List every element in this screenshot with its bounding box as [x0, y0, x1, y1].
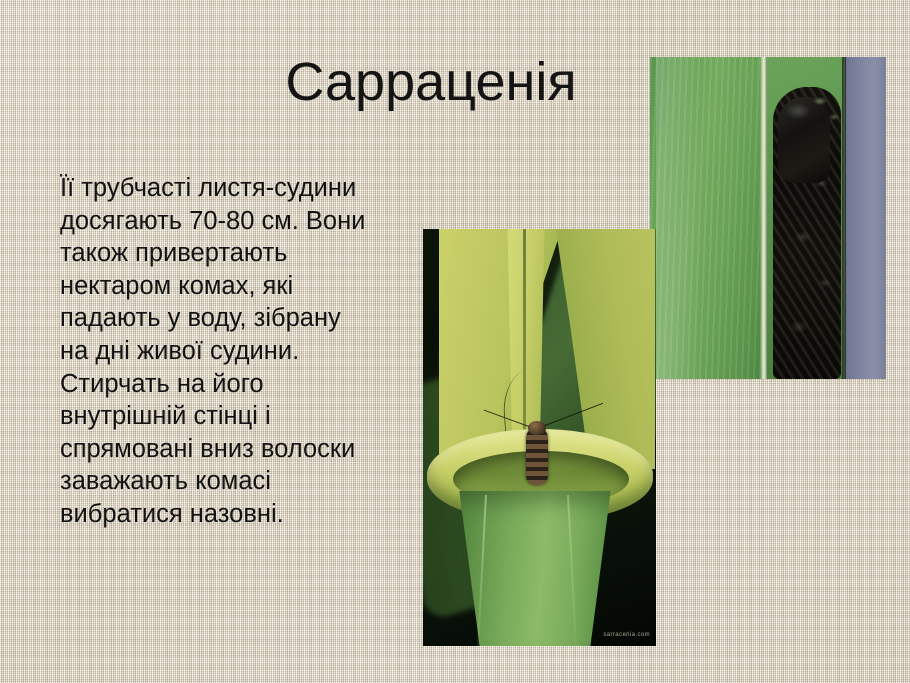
body-line: Стирчать на його	[60, 368, 432, 401]
body-line: також привертають	[60, 237, 432, 270]
body-line: Її трубчасті листя-судини	[60, 172, 432, 205]
photo-watermark: sarracenia.com	[603, 632, 650, 638]
pitcher-wall-flecks	[810, 91, 846, 141]
body-line: падають у воду, зібрану	[60, 302, 432, 335]
body-line: внутрішній стінці і	[60, 400, 432, 433]
wasp-head	[528, 421, 546, 435]
photo-pitcher-with-wasp: sarracenia.com	[423, 229, 656, 646]
body-line: вибратися назовні.	[60, 498, 432, 531]
presentation-slide: Сарраценія Її трубчасті листя-судини дос…	[0, 0, 910, 683]
wasp-body	[526, 427, 548, 485]
body-line: нектаром комах, які	[60, 270, 432, 303]
photo-pitcher-cross-section	[650, 57, 886, 379]
pitcher-wall-sheen	[656, 57, 702, 379]
body-line: заважають комасі	[60, 465, 432, 498]
body-line: на дні живої судини.	[60, 335, 432, 368]
photo-blue-strip	[846, 57, 886, 379]
body-line: досягають 70-80 см. Вони	[60, 205, 432, 238]
page-title-text: Сарраценія	[285, 51, 576, 113]
body-paragraph: Її трубчасті листя-судини досягають 70-8…	[60, 172, 432, 531]
body-line: спрямовані вниз волоски	[60, 433, 432, 466]
